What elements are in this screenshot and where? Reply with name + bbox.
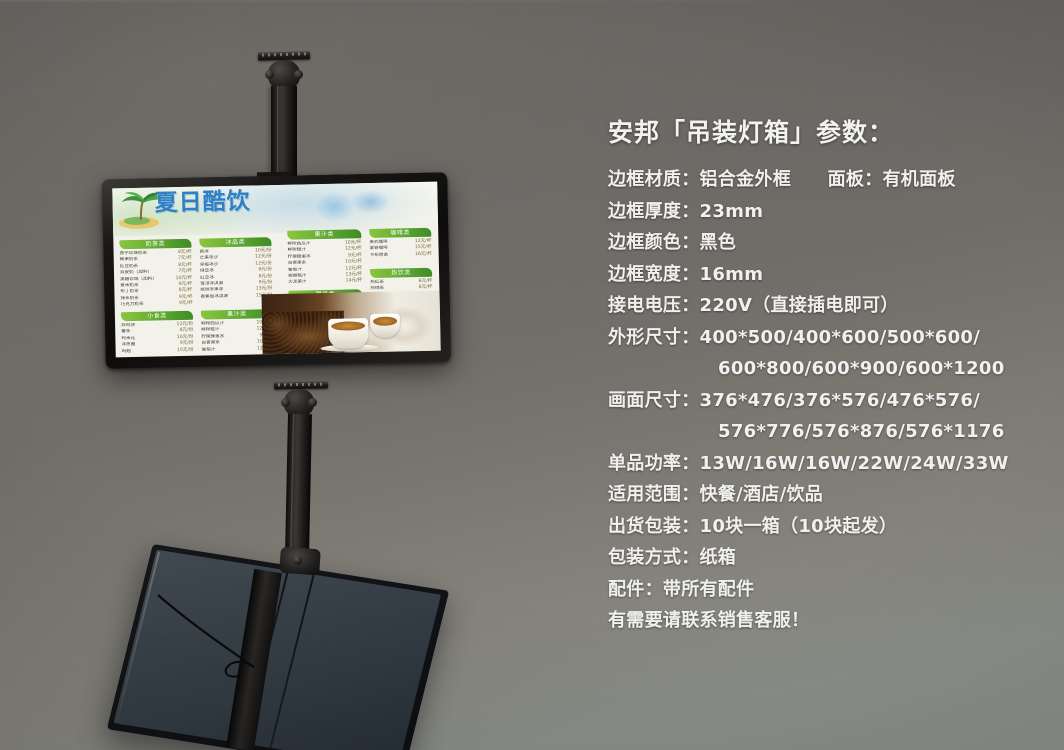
spec-row-outer-size: 外形尺寸： 400*500/400*600/500*600/ <box>608 322 1048 354</box>
section-heading: 奶茶类 <box>119 239 191 250</box>
spec-value: 纸箱 <box>700 542 737 574</box>
aluminium-bezel: 夏日酷饮 奶茶类 香芋珍珠奶茶8元/杯 椰果奶茶7元/杯 红豆奶茶8元/杯 双皮… <box>102 172 451 368</box>
spec-value: 带所有配件 <box>663 574 755 606</box>
spec-row-accessories: 配件： 带所有配件 <box>608 574 1048 606</box>
section-heading: 热饮类 <box>370 268 432 278</box>
coffee-liquid <box>331 321 365 331</box>
section-heading: 冰品类 <box>199 237 271 248</box>
menu-column: 果汁类 鲜榨西瓜汁10元/杯 鲜榨橙汁12元/杯 柠檬蜂蜜水9元/杯 百香果茶1… <box>287 229 362 286</box>
menu-column: 小食类 炸鸡块12元/份 薯条8元/份 鸡米花10元/份 洋葱圈9元/份 鸡翅1… <box>121 311 194 356</box>
spec-label: 接电电压： <box>608 290 700 322</box>
spec-label: 包装方式： <box>608 542 700 574</box>
spec-label: 边框宽度： <box>608 259 700 291</box>
menu-item-row: 卡布奇诺16元/杯 <box>370 252 432 260</box>
section-heading: 果汁类 <box>287 229 361 240</box>
menu-poster: 夏日酷饮 奶茶类 香芋珍珠奶茶8元/杯 椰果奶茶7元/杯 红豆奶茶8元/杯 双皮… <box>112 182 440 358</box>
spec-row-frame-width: 边框宽度： 16mm <box>608 259 1048 291</box>
joint-bolt-icon <box>281 398 290 407</box>
panel-edge-highlight <box>116 552 160 722</box>
joint-bolt-icon <box>293 556 303 566</box>
spec-row-graphic-size: 画面尺寸： 376*476/376*576/476*576/ <box>608 385 1048 417</box>
specification-panel: 安邦「吊装灯箱」参数： 边框材质： 铝合金外框 面板：有机面板 边框厚度： 23… <box>608 118 1048 637</box>
spec-row-shipping-pack: 出货包装： 10块一箱（10块起发） <box>608 511 1048 543</box>
spec-value: 黑色 <box>700 227 737 259</box>
spec-value: 600*800/600*900/600*1200 <box>718 353 1005 385</box>
coffee-cup-back <box>370 313 400 338</box>
tilt-joint <box>279 547 321 576</box>
spec-label: 画面尺寸： <box>608 385 700 417</box>
product-lower-view <box>0 360 600 750</box>
spec-value: 376*476/376*576/476*576/ <box>700 385 981 417</box>
spec-row-contact-sales: 有需要请联系销售客服！ <box>608 605 1048 637</box>
contact-sales-text: 有需要请联系销售客服！ <box>608 605 809 637</box>
section-heading: 咖啡类 <box>369 228 431 238</box>
spec-row-application: 适用范围： 快餐/酒店/饮品 <box>608 479 1048 511</box>
spec-label: 适用范围： <box>608 479 700 511</box>
joint-bolt-icon <box>294 70 303 79</box>
spec-value: 16mm <box>700 259 764 291</box>
page-title: 安邦「吊装灯箱」参数： <box>608 118 1048 148</box>
water-splash-graphic <box>307 185 398 227</box>
drop-pole-lower <box>285 414 312 554</box>
spec-row-outer-size-cont: 600*800/600*900/600*1200 <box>608 353 1048 385</box>
menu-column: 咖啡类 美式咖啡12元/杯 拿铁咖啡15元/杯 卡布奇诺16元/杯 <box>369 228 432 260</box>
spec-label: 外形尺寸： <box>608 322 700 354</box>
spec-row-packing-method: 包装方式： 纸箱 <box>608 542 1048 574</box>
spec-row-frame-thickness: 边框厚度： 23mm <box>608 196 1048 228</box>
menu-item-row: 巧克力奶茶9元/杯 <box>121 301 193 309</box>
spec-row-frame-color: 边框颜色： 黑色 <box>608 227 1048 259</box>
spec-label: 出货包装： <box>608 511 700 543</box>
drop-pole-upper <box>271 86 297 181</box>
spec-row-power: 单品功率： 13W/16W/16W/22W/24W/33W <box>608 448 1048 480</box>
spec-value: 铝合金外框 面板：有机面板 <box>700 164 956 196</box>
spec-value: 400*500/400*600/500*600/ <box>700 322 981 354</box>
spec-label: 配件： <box>608 574 663 606</box>
pole-highlight <box>277 86 279 181</box>
joint-bolt-icon <box>265 70 274 79</box>
coffee-liquid <box>373 316 397 326</box>
spec-value: 13W/16W/16W/22W/24W/33W <box>700 448 1009 480</box>
lightbox-front-face: 夏日酷饮 奶茶类 香芋珍珠奶茶8元/杯 椰果奶茶7元/杯 红豆奶茶8元/杯 双皮… <box>102 172 451 368</box>
spec-label: 边框厚度： <box>608 196 700 228</box>
spec-value: 220V（直接插电即可） <box>700 290 899 322</box>
mount-plate-holes <box>278 383 324 387</box>
product-upper-view: 夏日酷饮 奶茶类 香芋珍珠奶茶8元/杯 椰果奶茶7元/杯 红豆奶茶8元/杯 双皮… <box>0 0 600 400</box>
coffee-photograph <box>261 291 440 355</box>
spec-row-voltage: 接电电压： 220V（直接插电即可） <box>608 290 1048 322</box>
menu-sections: 奶茶类 香芋珍珠奶茶8元/杯 椰果奶茶7元/杯 红豆奶茶8元/杯 双皮奶（加料）… <box>113 226 441 358</box>
coffee-cup-front <box>328 318 369 349</box>
menu-column: 奶茶类 香芋珍珠奶茶8元/杯 椰果奶茶7元/杯 红豆奶茶8元/杯 双皮奶（加料）… <box>119 239 192 309</box>
menu-title: 夏日酷饮 <box>154 191 250 216</box>
joint-bolt-icon <box>308 398 317 407</box>
spec-row-graphic-size-cont: 576*776/576*876/576*1176 <box>608 416 1048 448</box>
spec-value: 576*776/576*876/576*1176 <box>718 416 1005 448</box>
menu-column: 冰品类 刨冰10元/份 芒果冰沙12元/份 草莓冰沙12元/份 绿豆冰8元/份 … <box>199 237 272 301</box>
spec-value: 23mm <box>700 196 764 228</box>
spec-label: 边框材质： <box>608 164 700 196</box>
spec-label: 边框颜色： <box>608 227 700 259</box>
spec-value: 10块一箱（10块起发） <box>700 511 898 543</box>
section-heading: 小食类 <box>121 311 193 322</box>
pole-highlight <box>290 414 295 554</box>
spec-value: 快餐/酒店/饮品 <box>700 479 824 511</box>
spec-label: 单品功率： <box>608 448 700 480</box>
mount-plate-holes <box>262 52 306 56</box>
menu-item-row: 火龙果汁14元/杯 <box>288 279 362 287</box>
spec-row-frame-material: 边框材质： 铝合金外框 面板：有机面板 <box>608 164 1048 196</box>
